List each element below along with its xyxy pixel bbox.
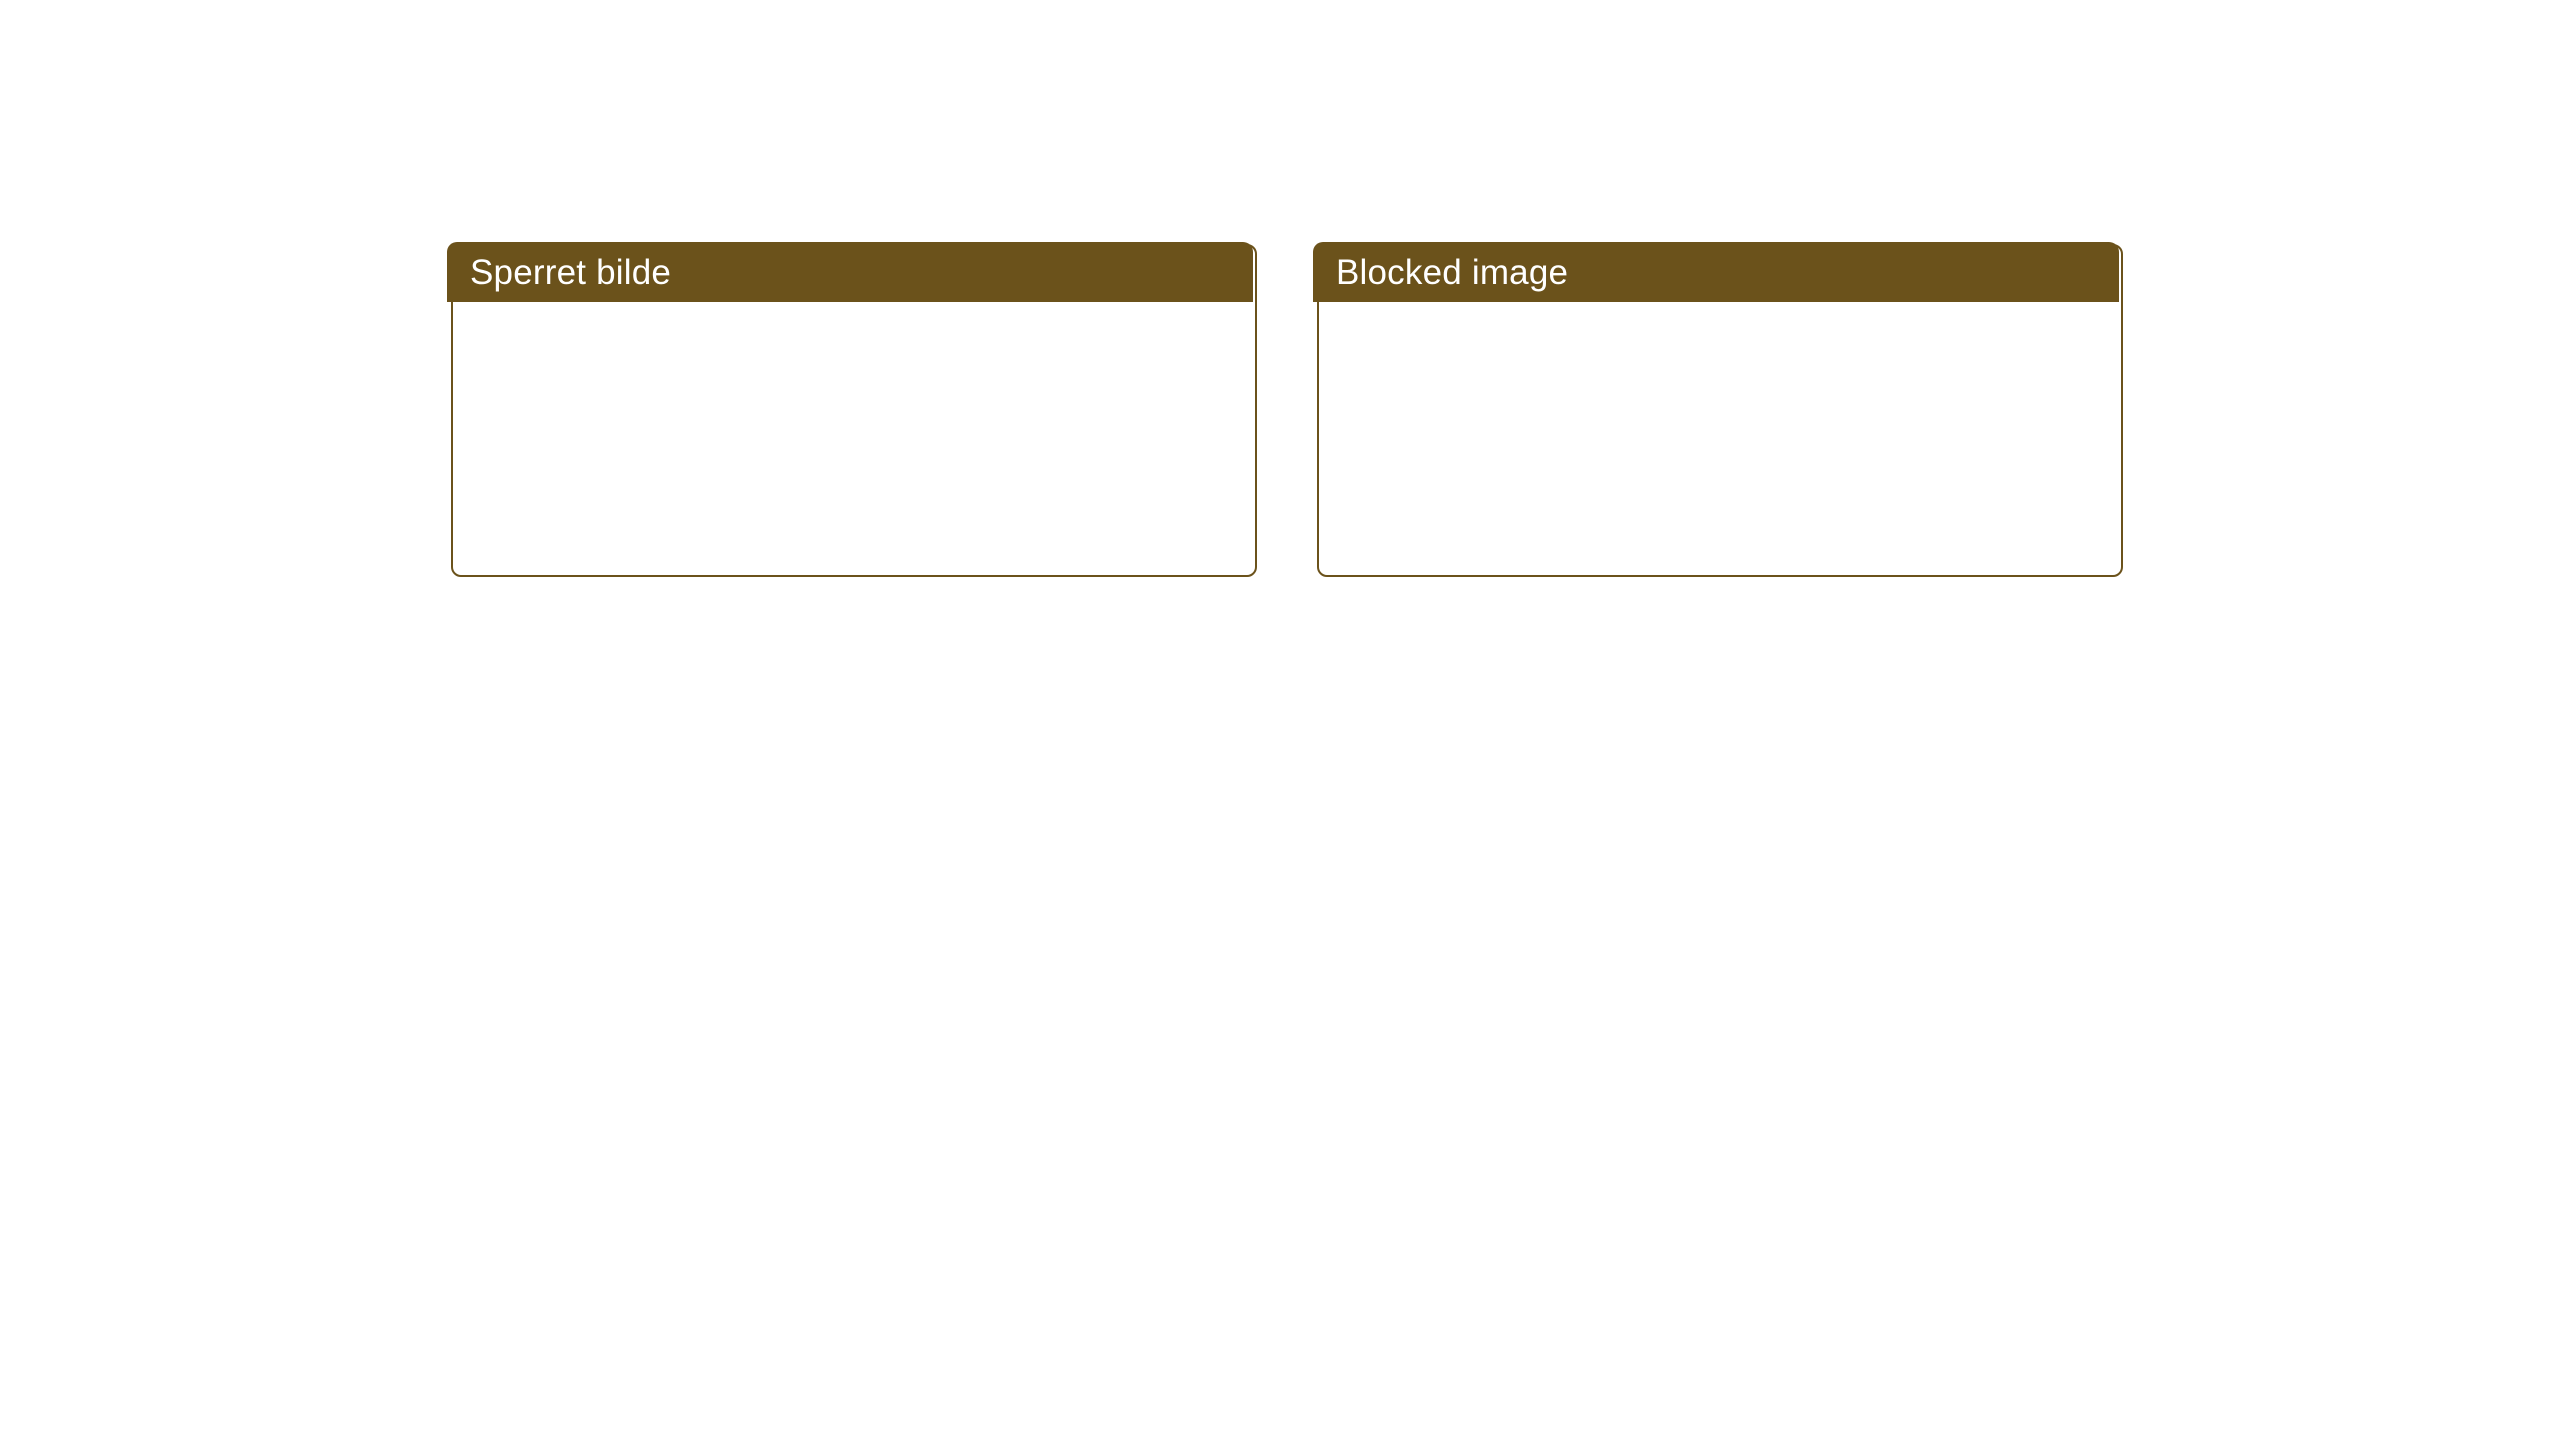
notice-title: Blocked image <box>1336 255 1568 290</box>
notice-header-bar: Sperret bilde <box>447 242 1253 302</box>
notice-header-bar: Blocked image <box>1313 242 2119 302</box>
page-canvas: Sperret bilde Dette bildet er sperret gr… <box>0 0 2560 1440</box>
notice-title: Sperret bilde <box>470 255 671 290</box>
blocked-image-notice-norwegian: Sperret bilde Dette bildet er sperret gr… <box>447 242 1259 577</box>
blocked-image-notice-english: Blocked image This image is restricted f… <box>1313 242 2125 577</box>
